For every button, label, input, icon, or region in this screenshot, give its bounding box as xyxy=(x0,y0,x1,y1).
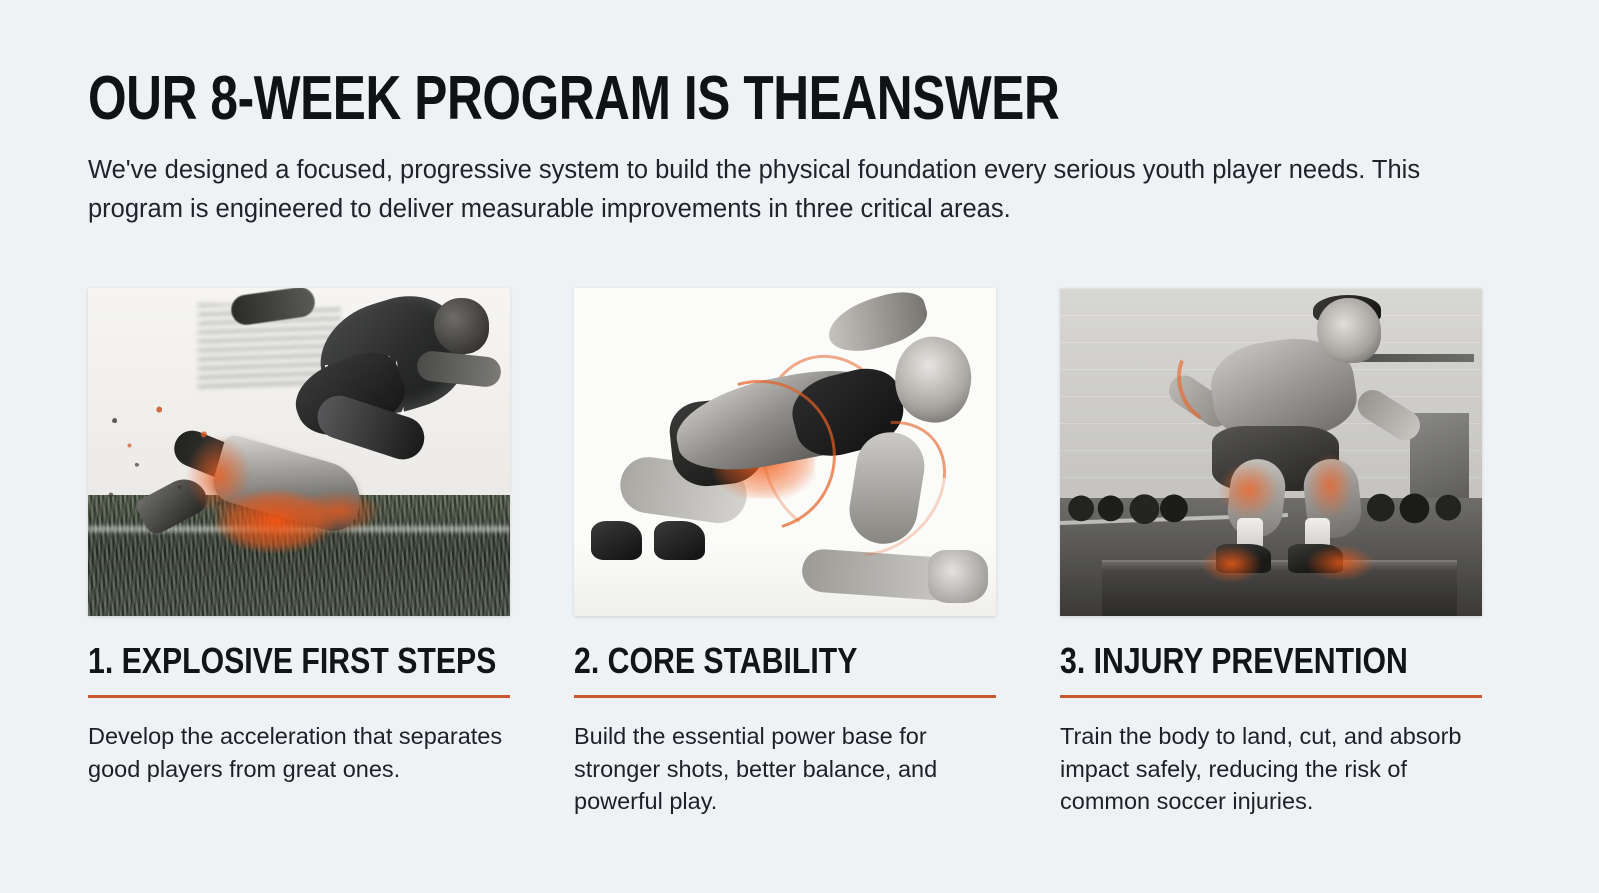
card-body-text: Train the body to land, cut, and absorb … xyxy=(1060,720,1478,818)
card-accent-rule xyxy=(1060,695,1482,698)
debris-specks xyxy=(96,393,282,531)
ankle-orange-glow xyxy=(1187,531,1390,587)
card-heading: 3. INJURY PREVENTION xyxy=(1060,641,1414,681)
card-body-text: Develop the acceleration that separates … xyxy=(88,720,506,785)
card-accent-rule xyxy=(88,695,510,698)
card-heading: 1. EXPLOSIVE FIRST STEPS xyxy=(88,641,442,681)
page-subtitle: We've designed a focused, progressive sy… xyxy=(88,151,1428,229)
card-image-sprinting-player xyxy=(88,288,510,616)
athlete-clasped-fists xyxy=(928,550,987,602)
card-image-box-landing xyxy=(1060,288,1482,616)
card-body-text: Build the essential power base for stron… xyxy=(574,720,992,818)
athlete-head xyxy=(1317,298,1380,364)
athlete-shoe-right xyxy=(654,521,705,560)
header: OUR 8-WEEK PROGRAM IS THEANSWER We've de… xyxy=(88,66,1488,229)
benefit-card-injury-prevention[interactable]: 3. INJURY PREVENTION Train the body to l… xyxy=(1060,288,1482,818)
benefit-card-explosive-first-steps[interactable]: 1. EXPLOSIVE FIRST STEPS Develop the acc… xyxy=(88,288,510,818)
player-head xyxy=(434,298,489,354)
card-image-plank-athlete xyxy=(574,288,996,616)
card-accent-rule xyxy=(574,695,996,698)
slide-root: OUR 8-WEEK PROGRAM IS THEANSWER We've de… xyxy=(0,0,1599,893)
page-title: OUR 8-WEEK PROGRAM IS THEANSWER xyxy=(88,66,1208,132)
benefit-card-core-stability[interactable]: 2. CORE STABILITY Build the essential po… xyxy=(574,288,996,818)
benefit-card-grid: 1. EXPLOSIVE FIRST STEPS Develop the acc… xyxy=(88,288,1482,818)
athlete-shoe-left xyxy=(591,521,642,560)
card-heading: 2. CORE STABILITY xyxy=(574,641,928,681)
